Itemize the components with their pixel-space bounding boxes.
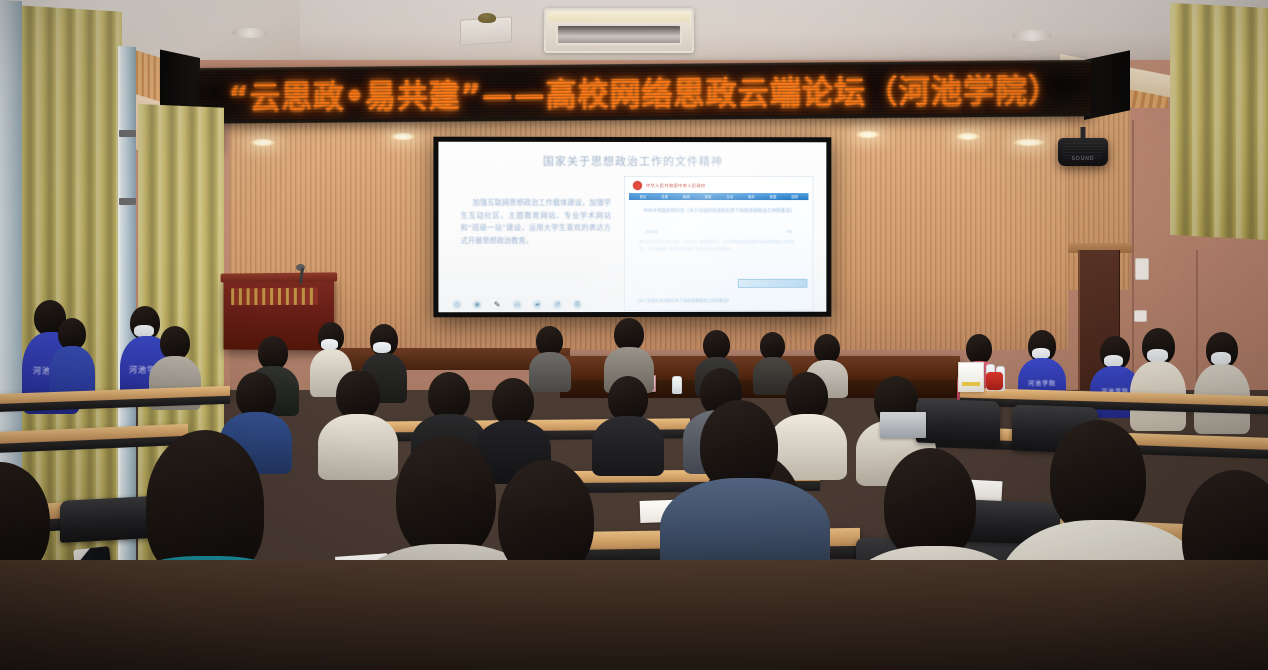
slide-body-text: 加强互联网思想政治工作载体建设，加强学生互动社区、主题教育网站、专业学术网站和“… xyxy=(461,197,611,248)
downlight-2 xyxy=(390,132,416,141)
head xyxy=(396,436,496,560)
downlight-4 xyxy=(955,132,981,141)
curtain-right xyxy=(1170,3,1268,241)
downlight-5 xyxy=(1012,138,1046,147)
head xyxy=(884,448,976,562)
gov-site-header-text: 中华人民共和国中央人民政府 xyxy=(646,183,706,189)
head xyxy=(703,330,730,360)
projection-screen-frame: 国家关于思想政治工作的文件精神 加强互联网思想政治工作载体建设，加强学生互动社区… xyxy=(433,137,831,318)
mullion-bracket-top xyxy=(119,130,136,137)
head xyxy=(428,372,470,420)
body xyxy=(592,416,664,476)
speaker-badge-right: SOUND xyxy=(1071,156,1094,162)
head xyxy=(336,370,380,420)
wall-switch-lower[interactable] xyxy=(1134,310,1147,322)
face-mask xyxy=(373,342,391,353)
head xyxy=(492,378,534,426)
gov-site-header: 中华人民共和国中央人民政府 xyxy=(633,181,706,190)
downlight-1 xyxy=(250,138,276,147)
supply-box-stripe xyxy=(962,382,980,386)
gov-doc-footer: 《关于加强和改进新形势下高校思想政治工作的意见》 xyxy=(635,298,731,304)
cursor-icon[interactable]: ◇ xyxy=(453,300,462,309)
body xyxy=(529,352,571,392)
gov-doc-title: 中共中央国务院印发《关于加强和改进新形势下高校思想政治工作的意见》 xyxy=(637,207,801,216)
supply-box xyxy=(958,362,984,392)
whiteboard-toolbar[interactable]: ◇ ◉ ✎ ▭ ▰ ↺ ☰ xyxy=(453,300,582,309)
circle-icon[interactable]: ◉ xyxy=(473,300,482,309)
red-bag xyxy=(986,372,1003,390)
wall-switch-upper[interactable] xyxy=(1135,258,1149,280)
shape-icon[interactable]: ▰ xyxy=(533,300,542,309)
head xyxy=(966,334,992,364)
gov-nav-item-1[interactable]: 总理 xyxy=(661,194,668,199)
gov-doc-paragraph: 新华社北京2月27日电 近日，中共中央、国务院印发了《关于加强和改进新形势下高校… xyxy=(639,239,799,254)
gov-doc-meta-right: 字号 xyxy=(786,229,792,234)
podium-top xyxy=(221,272,338,282)
head xyxy=(786,372,828,420)
gov-nav-item-3[interactable]: 政策 xyxy=(705,194,712,199)
gov-doc-meta-left: 发布时间 xyxy=(645,229,658,234)
gov-nav-item-4[interactable]: 互动 xyxy=(726,194,733,199)
gov-site-navbar: 首页 总理 新闻 政策 互动 服务 数据 国情 xyxy=(629,193,808,200)
body xyxy=(318,414,398,480)
laptop[interactable] xyxy=(880,412,926,438)
head xyxy=(1050,420,1146,536)
led-banner-text: “云思政•易共建”——高校网络思政云端论坛（河池学院） xyxy=(229,65,1061,118)
led-banner: “云思政•易共建”——高校网络思政云端论坛（河池学院） xyxy=(199,60,1091,124)
gov-nav-item-6[interactable]: 数据 xyxy=(770,194,777,199)
downlight-3 xyxy=(855,130,881,139)
slide-title: 国家关于思想政治工作的文件精神 xyxy=(438,153,826,169)
wall-seam-2 xyxy=(1196,250,1198,390)
wall-seam-1 xyxy=(1132,120,1134,390)
lecture-hall-photo: “云思政•易共建”——高校网络思政云端论坛（河池学院） SOUND SOUND … xyxy=(0,0,1268,670)
projector-lens-icon xyxy=(478,13,496,23)
chair-mid-1[interactable] xyxy=(916,399,1000,446)
ceiling-vent-dot-right xyxy=(1012,30,1052,41)
wall-speaker-right: SOUND xyxy=(1058,138,1108,166)
gov-doc-meta: 发布时间 字号 xyxy=(645,229,793,234)
head xyxy=(760,332,785,360)
air-conditioner-vent xyxy=(544,8,694,53)
volunteer-vest-text: 河池学院 xyxy=(1028,378,1056,387)
pen-icon[interactable]: ✎ xyxy=(493,300,502,309)
head xyxy=(814,334,840,363)
undo-icon[interactable]: ↺ xyxy=(553,300,562,309)
eraser-icon[interactable]: ▭ xyxy=(513,300,522,309)
floor xyxy=(0,560,1268,670)
gov-nav-item-5[interactable]: 服务 xyxy=(748,194,755,199)
menu-icon[interactable]: ☰ xyxy=(573,300,582,309)
gov-nav-item-7[interactable]: 国情 xyxy=(791,194,798,199)
ceiling-vent-dot-left xyxy=(232,28,268,38)
podium-crest xyxy=(231,288,318,305)
gov-nav-item-0[interactable]: 首页 xyxy=(639,194,646,199)
head xyxy=(258,336,288,370)
gov-doc-tagbox xyxy=(738,279,808,288)
gov-nav-item-2[interactable]: 新闻 xyxy=(683,194,690,199)
national-emblem-icon xyxy=(633,181,642,190)
slide-webpage-screenshot: 中华人民共和国中央人民政府 首页 总理 新闻 政策 互动 服务 数据 国情 中共… xyxy=(624,176,813,311)
head xyxy=(160,326,190,360)
water-bottle-stage xyxy=(672,376,682,394)
projection-screen: 国家关于思想政治工作的文件精神 加强互联网思想政治工作载体建设，加强学生互动社区… xyxy=(438,142,826,313)
mullion-bracket-bottom xyxy=(119,198,136,205)
